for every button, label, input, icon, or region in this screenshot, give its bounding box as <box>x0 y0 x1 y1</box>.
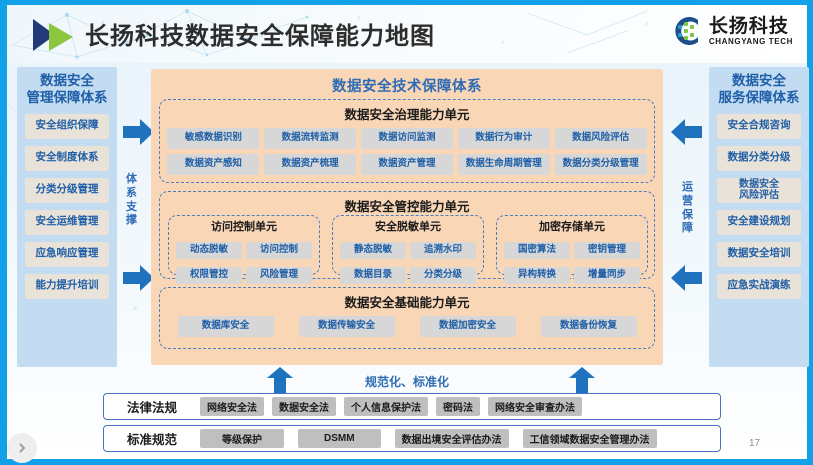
right-connector-label: 运营保障 <box>681 181 695 236</box>
base-chip-2[interactable]: 数据传输安全 <box>299 316 395 337</box>
right-service-panel[interactable]: 数据安全 服务保障体系 安全合规咨询 数据分类分级 数据安全 风险评估 安全建设… <box>709 67 809 367</box>
law-row-items: 网络安全法 数据安全法 个人信息保护法 密码法 网络安全审查办法 <box>200 397 720 416</box>
left-item-6[interactable]: 能力提升培训 <box>25 274 109 299</box>
right-panel-title-line2: 服务保障体系 <box>719 90 800 105</box>
right-item-1[interactable]: 安全合规咨询 <box>717 114 801 139</box>
left-panel-title-line2: 管理保障体系 <box>27 90 108 105</box>
governance-chip-4[interactable]: 数据行为审计 <box>458 128 550 149</box>
masking-rows: 静态脱敏 追溯水印 数据目录 分类分级 <box>333 237 483 284</box>
governance-chip-10[interactable]: 数据分类分级管理 <box>555 154 647 175</box>
base-unit-title: 数据安全基础能力单元 <box>160 292 654 311</box>
encryption-chip-4[interactable]: 增量同步 <box>574 267 640 284</box>
left-item-3[interactable]: 分类分级管理 <box>25 178 109 203</box>
encryption-subunit-title: 加密存储单元 <box>497 218 647 234</box>
masking-chip-4[interactable]: 分类分级 <box>410 267 476 284</box>
right-item-4[interactable]: 安全建设规划 <box>717 210 801 235</box>
masking-subunit-title: 安全脱敏单元 <box>333 218 483 234</box>
standard-chip-2[interactable]: DSMM <box>298 429 381 448</box>
standard-chip-4[interactable]: 工信领域数据安全管理办法 <box>523 429 657 448</box>
access-control-rows: 动态脱敏 访问控制 权限管控 风险管理 <box>169 237 319 284</box>
brand-name-en: CHANGYANG TECH <box>709 38 793 46</box>
standards-row-items: 等级保护 DSMM 数据出境安全评估办法 工信领域数据安全管理办法 <box>200 429 720 448</box>
brand-name-cn: 长扬科技 <box>709 17 793 36</box>
masking-row-1: 静态脱敏 追溯水印 <box>333 242 483 259</box>
encryption-storage-subunit: 加密存储单元 国密算法 密钥管理 异构转换 增量同步 <box>496 215 648 275</box>
standards-row: 标准规范 等级保护 DSMM 数据出境安全评估办法 工信领域数据安全管理办法 <box>103 425 721 452</box>
left-item-4[interactable]: 安全运维管理 <box>25 210 109 235</box>
brand-logo: 长扬科技 CHANGYANG TECH <box>668 13 793 49</box>
encryption-rows: 国密算法 密钥管理 异构转换 增量同步 <box>497 237 647 284</box>
governance-unit-title: 数据安全治理能力单元 <box>160 104 654 123</box>
encryption-row-1: 国密算法 密钥管理 <box>497 242 647 259</box>
brand-text: 长扬科技 CHANGYANG TECH <box>709 17 793 46</box>
play-triangle-logo <box>29 17 77 53</box>
arrow-left-icon-top <box>671 117 703 147</box>
access-chip-4[interactable]: 风险管理 <box>246 267 312 284</box>
law-chip-2[interactable]: 数据安全法 <box>272 397 336 416</box>
base-chip-4[interactable]: 数据备份恢复 <box>541 316 637 337</box>
standards-row-head: 标准规范 <box>104 429 200 448</box>
standard-chip-3[interactable]: 数据出境安全评估办法 <box>395 429 509 448</box>
encryption-chip-3[interactable]: 异构转换 <box>504 267 570 284</box>
governance-chip-5[interactable]: 数据风险评估 <box>555 128 647 149</box>
governance-chip-6[interactable]: 数据资产感知 <box>167 154 259 175</box>
access-chip-3[interactable]: 权限管控 <box>176 267 242 284</box>
base-capability-unit: 数据安全基础能力单元 数据库安全 数据传输安全 数据加密安全 数据备份恢复 <box>159 287 655 349</box>
masking-chip-2[interactable]: 追溯水印 <box>410 242 476 259</box>
governance-chip-9[interactable]: 数据生命周期管理 <box>458 154 550 175</box>
governance-chip-3[interactable]: 数据访问监测 <box>361 128 453 149</box>
right-panel-title-line1: 数据安全 <box>732 73 786 88</box>
governance-chip-1[interactable]: 敏感数据识别 <box>167 128 259 149</box>
left-panel-title-line1: 数据安全 <box>40 73 94 88</box>
encryption-chip-1[interactable]: 国密算法 <box>504 242 570 259</box>
masking-subunit: 安全脱敏单元 静态脱敏 追溯水印 数据目录 分类分级 <box>332 215 484 275</box>
tech-system-title: 数据安全技术保障体系 <box>151 69 663 96</box>
page-number: 17 <box>749 438 760 449</box>
tech-system-container: 数据安全技术保障体系 数据安全治理能力单元 敏感数据识别 数据流转监测 数据访问… <box>151 69 663 365</box>
control-unit-title: 数据安全管控能力单元 <box>160 196 654 215</box>
governance-row-2: 数据资产感知 数据资产梳理 数据资产管理 数据生命周期管理 数据分类分级管理 <box>160 154 654 175</box>
law-chip-4[interactable]: 密码法 <box>436 397 480 416</box>
changyang-c-hexagon-logo <box>668 13 704 49</box>
access-control-subunit-title: 访问控制单元 <box>169 218 319 234</box>
base-unit-row: 数据库安全 数据传输安全 数据加密安全 数据备份恢复 <box>160 316 654 337</box>
right-item-3[interactable]: 数据安全 风险评估 <box>717 178 801 203</box>
right-item-5[interactable]: 数据安全培训 <box>717 242 801 267</box>
chevron-right-icon <box>16 442 28 454</box>
left-item-2[interactable]: 安全制度体系 <box>25 146 109 171</box>
access-control-row-1: 动态脱敏 访问控制 <box>169 242 319 259</box>
control-capability-unit: 数据安全管控能力单元 访问控制单元 动态脱敏 访问控制 权限管控 风险管理 安全… <box>159 191 655 279</box>
access-control-row-2: 权限管控 风险管理 <box>169 267 319 284</box>
next-slide-button[interactable] <box>7 433 37 463</box>
governance-chip-7[interactable]: 数据资产梳理 <box>264 154 356 175</box>
access-control-subunit: 访问控制单元 动态脱敏 访问控制 权限管控 风险管理 <box>168 215 320 275</box>
masking-chip-3[interactable]: 数据目录 <box>340 267 406 284</box>
masking-chip-1[interactable]: 静态脱敏 <box>340 242 406 259</box>
arrow-left-icon-bottom <box>671 263 703 293</box>
right-item-2[interactable]: 数据分类分级 <box>717 146 801 171</box>
governance-capability-unit: 数据安全治理能力单元 敏感数据识别 数据流转监测 数据访问监测 数据行为审计 数… <box>159 99 655 183</box>
access-chip-1[interactable]: 动态脱敏 <box>176 242 242 259</box>
standard-chip-1[interactable]: 等级保护 <box>200 429 284 448</box>
arrow-up-icon-right <box>567 367 597 395</box>
law-chip-5[interactable]: 网络安全审查办法 <box>488 397 582 416</box>
governance-chip-8[interactable]: 数据资产管理 <box>361 154 453 175</box>
access-chip-2[interactable]: 访问控制 <box>246 242 312 259</box>
encryption-row-2: 异构转换 增量同步 <box>497 267 647 284</box>
left-panel-title: 数据安全 管理保障体系 <box>27 73 108 107</box>
standardization-label: 规范化、标准化 <box>337 373 477 390</box>
arrow-up-icon-left <box>265 367 295 395</box>
right-panel-title: 数据安全 服务保障体系 <box>719 73 800 107</box>
right-item-6[interactable]: 应急实战演练 <box>717 274 801 299</box>
law-chip-3[interactable]: 个人信息保护法 <box>344 397 428 416</box>
slide-root: 长扬科技数据安全保障能力地图 长扬科技 CHANGYANG TECH <box>0 0 813 465</box>
law-row-head: 法律法规 <box>104 397 200 416</box>
governance-chip-2[interactable]: 数据流转监测 <box>264 128 356 149</box>
encryption-chip-2[interactable]: 密钥管理 <box>574 242 640 259</box>
governance-row-1: 敏感数据识别 数据流转监测 数据访问监测 数据行为审计 数据风险评估 <box>160 128 654 149</box>
right-item-3-label: 数据安全 风险评估 <box>739 179 779 202</box>
left-connector-label: 体系支撑 <box>125 173 139 228</box>
base-chip-1[interactable]: 数据库安全 <box>178 316 274 337</box>
left-item-1[interactable]: 安全组织保障 <box>25 114 109 139</box>
base-chip-3[interactable]: 数据加密安全 <box>420 316 516 337</box>
law-regulations-row: 法律法规 网络安全法 数据安全法 个人信息保护法 密码法 网络安全审查办法 <box>103 393 721 420</box>
left-item-5[interactable]: 应急响应管理 <box>25 242 109 267</box>
masking-row-2: 数据目录 分类分级 <box>333 267 483 284</box>
law-chip-1[interactable]: 网络安全法 <box>200 397 264 416</box>
page-title: 长扬科技数据安全保障能力地图 <box>85 16 435 51</box>
left-management-panel[interactable]: 数据安全 管理保障体系 安全组织保障 安全制度体系 分类分级管理 安全运维管理 … <box>17 67 117 367</box>
slide-header: 长扬科技数据安全保障能力地图 长扬科技 CHANGYANG TECH <box>7 5 807 63</box>
